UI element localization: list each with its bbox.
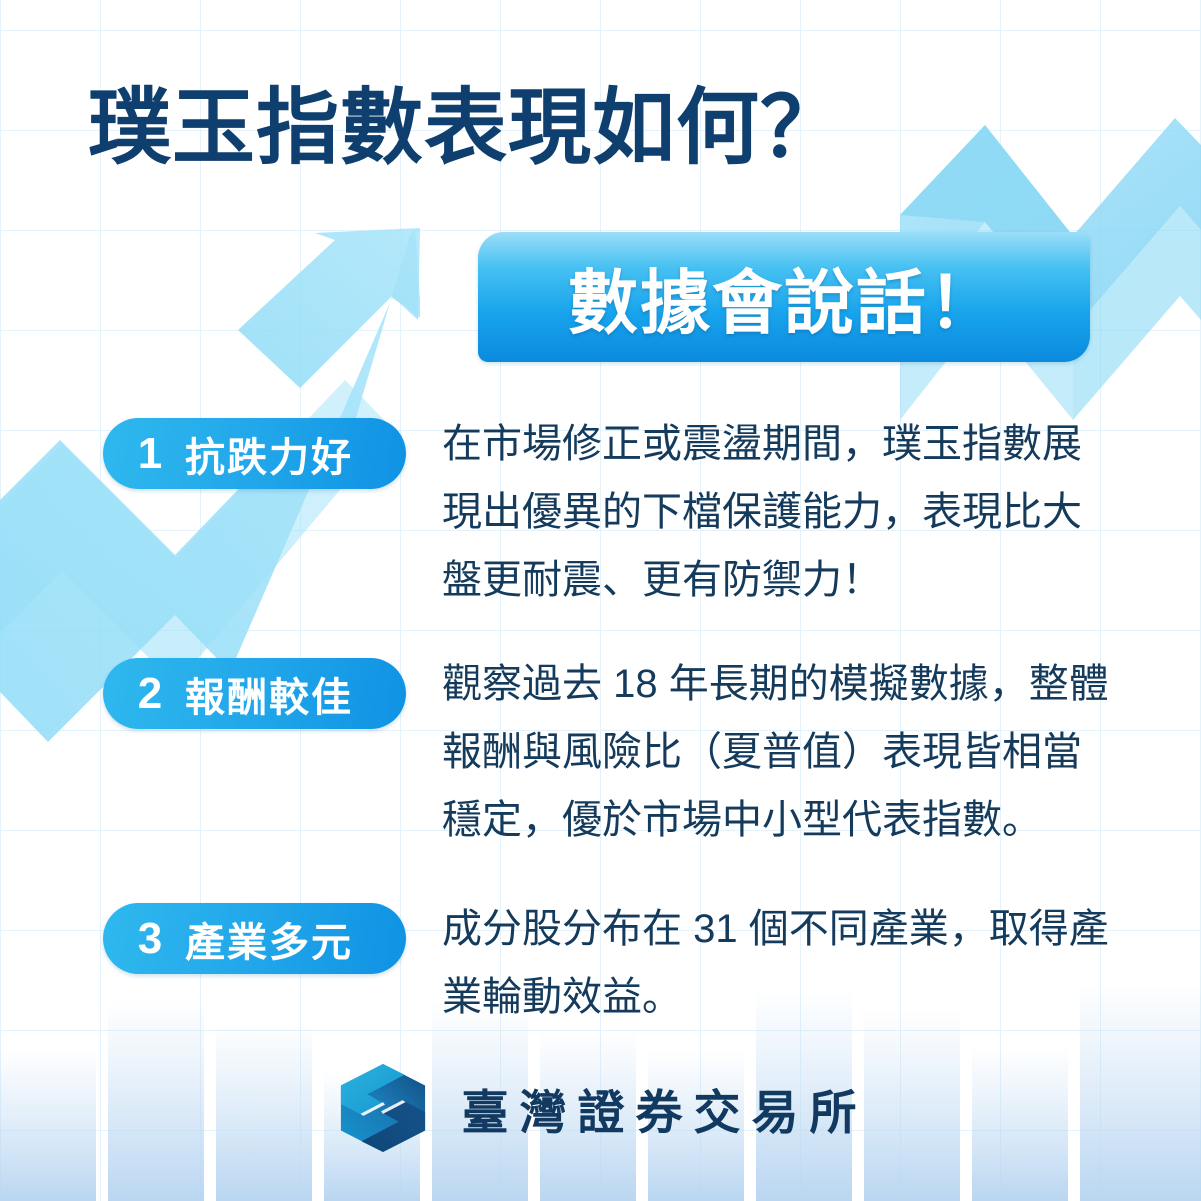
footer: 臺灣證券交易所 xyxy=(0,1062,1201,1154)
twse-hexagon-logo-icon xyxy=(334,1062,432,1154)
feature-number-3: 3 xyxy=(127,917,173,961)
feature-pill-3: 3 產業多元 xyxy=(103,903,406,974)
page-title: 璞玉指數表現如何？ xyxy=(88,86,844,169)
feature-label-2: 報酬較佳 xyxy=(185,665,353,723)
feature-label-1: 抗跌力好 xyxy=(185,425,353,483)
feature-body-3: 成分股分布在 31 個不同產業，取得產業輪動效益。 xyxy=(442,895,1114,1031)
feature-pill-1: 1 抗跌力好 xyxy=(103,418,406,489)
feature-label-3: 產業多元 xyxy=(185,910,353,968)
feature-number-2: 2 xyxy=(127,672,173,716)
footer-organization-name: 臺灣證券交易所 xyxy=(462,1074,868,1143)
feature-body-2: 觀察過去 18 年長期的模擬數據，整體報酬與風險比（夏普值）表現皆相當穩定，優於… xyxy=(442,650,1114,854)
feature-pill-2: 2 報酬較佳 xyxy=(103,658,406,729)
infographic-poster: 璞玉指數表現如何？ 數據會說話！ 1 抗跌力好 在市場修正或震盪期間，璞玉指數展… xyxy=(0,0,1201,1201)
headline-badge: 數據會說話！ xyxy=(478,232,1090,362)
headline-badge-label: 數據會說話！ xyxy=(568,247,1000,348)
feature-body-1: 在市場修正或震盪期間，璞玉指數展現出優異的下檔保護能力，表現比大盤更耐震、更有防… xyxy=(442,410,1114,614)
feature-number-1: 1 xyxy=(127,432,173,476)
